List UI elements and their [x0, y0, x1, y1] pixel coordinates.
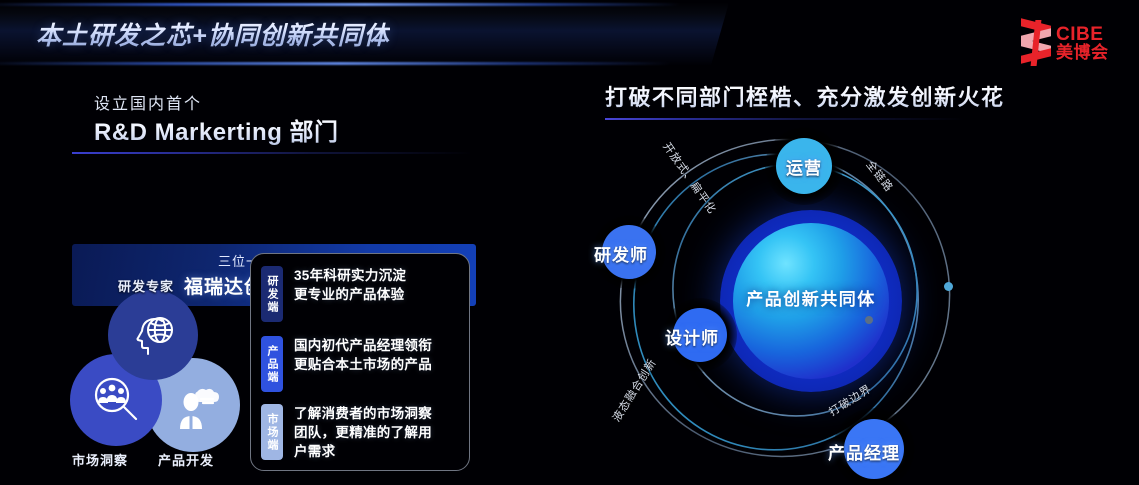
node-operations[interactable]: 运营 — [776, 138, 832, 194]
info-row-rd: 研发端 35年科研实力沉淀 更专业的产品体验 — [261, 266, 406, 322]
right-panel-title: 打破不同部门桎梏、充分激发创新火花 — [605, 80, 1005, 112]
cibe-zigzag-mark-icon — [1021, 20, 1051, 66]
header-band: 本土研发之芯+协同创新共同体 — [0, 0, 1139, 72]
info-row-product: 产品端 国内初代产品经理领衔 更贴合本土市场的产品 — [261, 336, 432, 392]
info-text-product: 国内初代产品经理领衔 更贴合本土市场的产品 — [294, 336, 432, 374]
info-tag-product: 产品端 — [261, 336, 283, 392]
header-band-top-edge — [0, 3, 680, 6]
info-text-product-line2: 更贴合本土市场的产品 — [294, 355, 432, 374]
venn-diagram: 研发专家 市场洞察 产品开发 — [60, 258, 260, 478]
info-tag-rd: 研发端 — [261, 266, 283, 322]
orbit-diagram: 产品创新共同体 运营 研发师 设计师 产品经理 开放式、扁平 — [580, 130, 1040, 485]
venn-label-product-development: 产品开发 — [158, 450, 214, 469]
info-text-market-line2: 团队，更精准的了解用 — [294, 423, 432, 442]
info-text-market: 了解消费者的市场洞察 团队，更精准的了解用 户需求 — [294, 404, 432, 461]
core-sphere: 产品创新共同体 — [733, 223, 889, 379]
lead-big-text: R&D Markerting 部门 — [94, 112, 339, 147]
info-text-product-line1: 国内初代产品经理领衔 — [294, 336, 432, 355]
orbit-cap-inner — [865, 316, 873, 324]
magnifier-people-icon — [90, 374, 142, 426]
node-designer[interactable]: 设计师 — [673, 308, 727, 362]
info-text-market-line3: 户需求 — [294, 442, 432, 461]
head-globe-icon — [128, 310, 178, 360]
venn-circle-rd-expert — [108, 290, 198, 380]
info-row-market: 市场端 了解消费者的市场洞察 团队，更精准的了解用 户需求 — [261, 404, 432, 461]
right-panel: 打破不同部门桎梏、充分激发创新火花 — [560, 72, 1139, 485]
header-band-bottom-edge — [0, 62, 670, 65]
venn-label-rd-expert: 研发专家 — [118, 276, 174, 295]
orbit-cap-right — [944, 282, 953, 291]
slide-root: 本土研发之芯+协同创新共同体 CIBE 美博会 设立国内首个 R&D Marke… — [0, 0, 1139, 485]
node-label-rd-engineer: 研发师 — [594, 241, 648, 266]
node-label-product-manager: 产品经理 — [828, 439, 900, 464]
cibe-logo: CIBE 美博会 — [1021, 18, 1125, 68]
logo-en-label: CIBE — [1056, 25, 1109, 44]
lead-small-text: 设立国内首个 — [94, 90, 202, 114]
core-label: 产品创新共同体 — [733, 285, 889, 310]
info-card: 研发端 35年科研实力沉淀 更专业的产品体验 产品端 国内初代产品经理领衔 更贴… — [250, 253, 470, 471]
node-label-operations: 运营 — [786, 154, 822, 179]
node-product-manager[interactable]: 产品经理 — [844, 419, 904, 479]
info-text-market-line1: 了解消费者的市场洞察 — [294, 404, 432, 423]
person-cloud-icon — [167, 379, 219, 431]
info-text-rd-line1: 35年科研实力沉淀 — [294, 266, 406, 285]
node-label-designer: 设计师 — [665, 324, 719, 349]
left-panel: 设立国内首个 R&D Markerting 部门 三位一体研发模式 福瑞达创新研… — [0, 72, 560, 485]
info-tag-market: 市场端 — [261, 404, 283, 460]
page-title: 本土研发之芯+协同创新共同体 — [36, 16, 390, 52]
node-rd-engineer[interactable]: 研发师 — [602, 225, 656, 279]
lead-divider — [72, 152, 472, 154]
right-panel-divider — [605, 118, 965, 120]
venn-label-market-insight: 市场洞察 — [72, 450, 128, 469]
logo-cn-label: 美博会 — [1056, 44, 1109, 61]
logo-text: CIBE 美博会 — [1056, 25, 1109, 62]
info-text-rd: 35年科研实力沉淀 更专业的产品体验 — [294, 266, 406, 304]
info-text-rd-line2: 更专业的产品体验 — [294, 285, 406, 304]
